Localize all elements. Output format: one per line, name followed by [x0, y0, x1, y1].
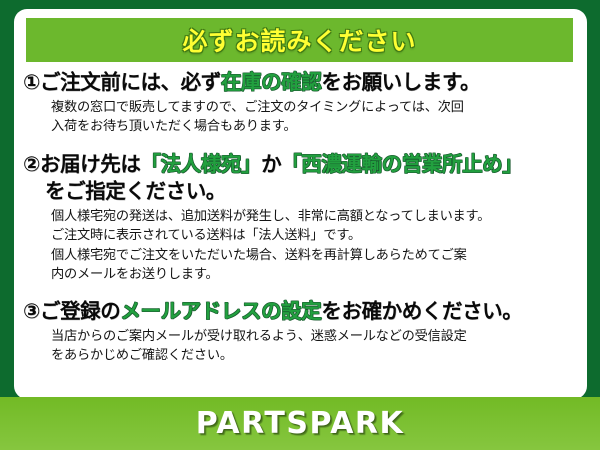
notice-item-description: 複数の窓口で販売してますので、ご注文のタイミングによっては、次回入荷をお待ち頂い… — [23, 98, 578, 137]
description-line: 個人様宅宛の発送は、追加送料が発生し、非常に高額となってしまいます。 — [51, 207, 578, 226]
brand-logo: PARTSPARK — [196, 406, 405, 441]
description-line: 複数の窓口で販売してますので、ご注文のタイミングによっては、次回 — [51, 98, 578, 117]
heading-highlight: メールアドレスの設定 — [120, 299, 321, 323]
description-line: 個人様宅宛でご注文をいただいた場合、送料を再計算しあらためてご案 — [51, 246, 578, 265]
notice-item: ①ご注文前には、必ず在庫の確認をお願いします。複数の窓口で販売してますので、ご注… — [23, 69, 578, 137]
banner-title: 必ずお読みください — [182, 22, 416, 58]
notice-item: ②お届け先は「法人様宛」か「西濃運輸の営業所止め」をご指定ください。個人様宅宛の… — [23, 151, 578, 285]
notice-card: 必ずお読みください ①ご注文前には、必ず在庫の確認をお願いします。複数の窓口で販… — [14, 9, 587, 399]
notice-item-marker: ② — [23, 152, 40, 176]
description-line: をあらかじめご確認ください。 — [51, 346, 578, 365]
notice-item-heading: ③ご登録のメールアドレスの設定をお確かめください。 — [23, 298, 578, 325]
description-line: 入荷をお待ち頂いただく場合もあります。 — [51, 117, 578, 136]
heading-text: お届け先は — [40, 152, 141, 176]
notice-item-marker: ① — [23, 70, 40, 94]
notice-item: ③ご登録のメールアドレスの設定をお確かめください。当店からのご案内メールが受け取… — [23, 298, 578, 366]
notice-frame: 必ずお読みください ①ご注文前には、必ず在庫の確認をお願いします。複数の窓口で販… — [0, 0, 600, 450]
description-line: 内のメールをお送りします。 — [51, 265, 578, 284]
heading-highlight: 在庫の確認 — [221, 70, 322, 94]
heading-highlight: 「西濃運輸の営業所止め」 — [281, 152, 522, 176]
heading-text: をお願いします。 — [321, 70, 480, 94]
footer-bar: PARTSPARK — [0, 397, 600, 450]
heading-text: か — [261, 152, 281, 176]
notice-item-list: ①ご注文前には、必ず在庫の確認をお願いします。複数の窓口で販売してますので、ご注… — [14, 67, 587, 367]
description-line: 当店からのご案内メールが受け取れるよう、迷惑メールなどの受信設定 — [51, 327, 578, 346]
notice-item-description: 個人様宅宛の発送は、追加送料が発生し、非常に高額となってしまいます。ご注文時に表… — [23, 207, 578, 285]
notice-item-heading-line2: をご指定ください。 — [23, 178, 578, 205]
description-line: ご注文時に表示されている送料は「法人送料」です。 — [51, 226, 578, 245]
heading-highlight: 「法人様宛」 — [140, 152, 261, 176]
notice-item-marker: ③ — [23, 299, 40, 323]
heading-text: ご注文前には、必ず — [40, 70, 221, 94]
notice-item-description: 当店からのご案内メールが受け取れるよう、迷惑メールなどの受信設定をあらかじめご確… — [23, 327, 578, 366]
notice-item-heading: ①ご注文前には、必ず在庫の確認をお願いします。 — [23, 69, 578, 96]
heading-text: をお確かめください。 — [321, 299, 522, 323]
heading-text: ご登録の — [40, 299, 120, 323]
notice-item-heading: ②お届け先は「法人様宛」か「西濃運輸の営業所止め」 — [23, 151, 578, 178]
banner-header: 必ずお読みください — [26, 18, 573, 62]
